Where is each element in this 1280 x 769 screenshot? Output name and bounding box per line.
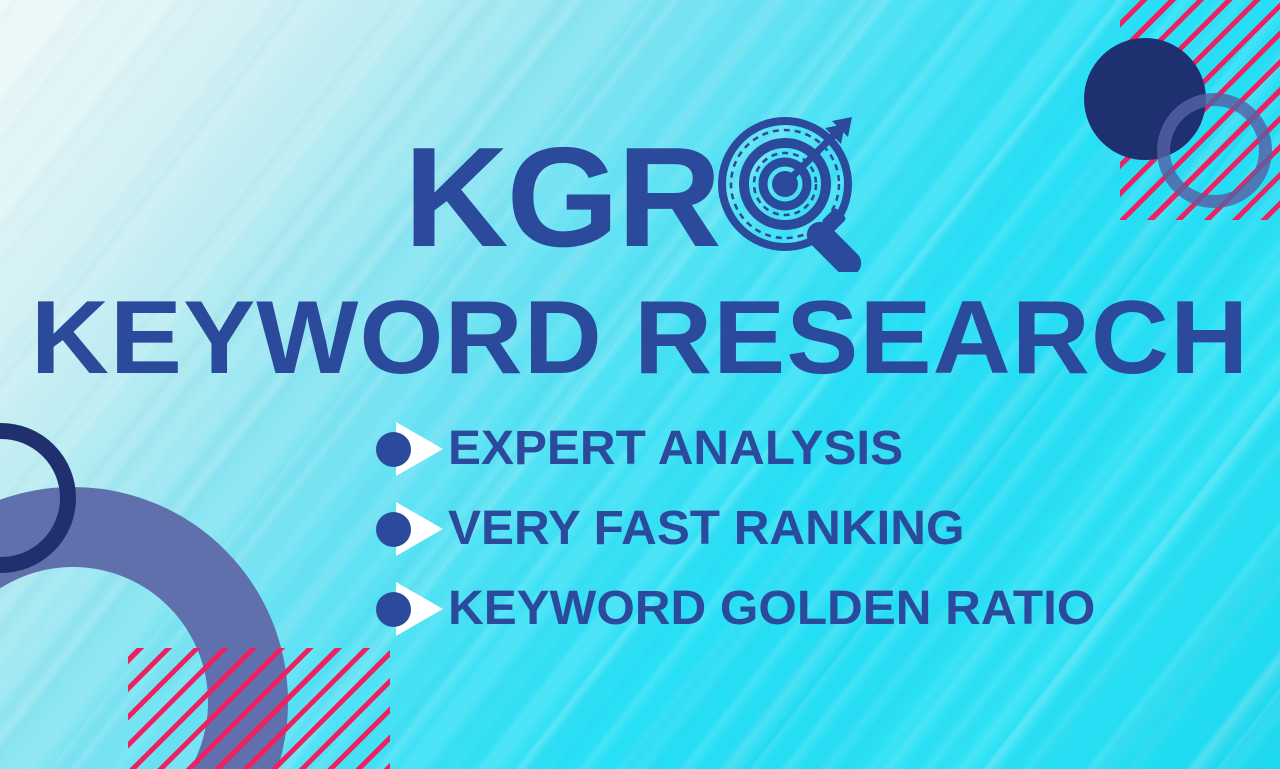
feature-label: VERY FAST RANKING [448, 505, 964, 553]
list-item: KEYWORD GOLDEN RATIO [376, 581, 1076, 636]
feature-label: KEYWORD GOLDEN RATIO [448, 585, 1095, 633]
magnifier-target-icon [713, 112, 873, 277]
circle-play-bullet-icon [376, 502, 448, 556]
feature-list: EXPERT ANALYSIS VERY FAST RANKING KEYWOR… [376, 421, 1076, 636]
poster-content: KGR [0, 0, 1280, 769]
brand-logo: KGR [0, 118, 1280, 277]
list-item: EXPERT ANALYSIS [376, 421, 1076, 476]
list-item: VERY FAST RANKING [376, 501, 1076, 556]
circle-play-bullet-icon [376, 422, 448, 476]
brand-logo-text: KGR [404, 127, 720, 269]
feature-label: EXPERT ANALYSIS [448, 425, 903, 473]
circle-play-bullet-icon [376, 582, 448, 636]
poster-canvas: KGR [0, 0, 1280, 769]
page-title: KEYWORD RESEARCH [0, 286, 1280, 390]
